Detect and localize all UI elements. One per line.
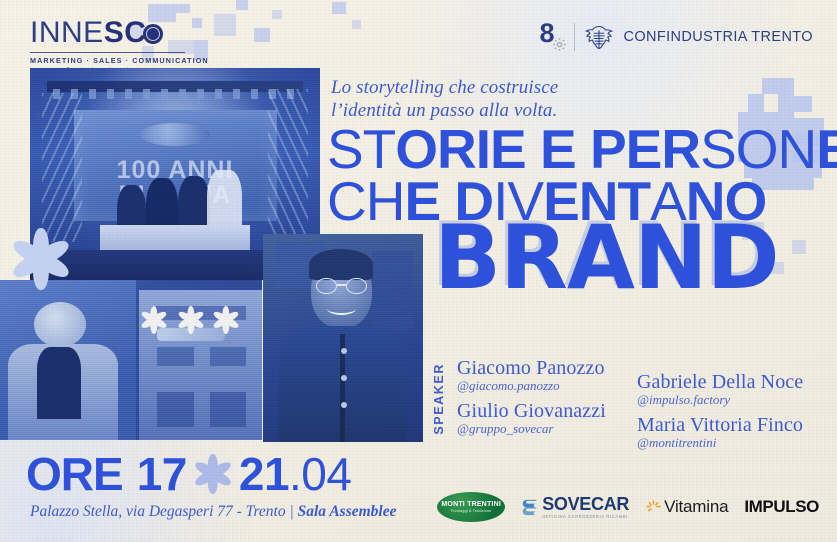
speaker-column-one: Giacomo Panozzo @giacomo.panozzo Giulio … xyxy=(457,358,606,443)
date-day: 21 xyxy=(239,451,289,497)
sovecar-mark-icon xyxy=(521,498,538,517)
speaker-name: Giacomo Panozzo xyxy=(457,358,606,379)
headline-brand-word: BRAND xyxy=(434,218,779,297)
speaker-name: Giulio Giovanazzi xyxy=(457,401,606,422)
sponsor-monti-name: MONTI TRENTINI xyxy=(441,501,501,508)
innesco-word-light: INNE xyxy=(30,16,104,49)
time-prefix: ORE xyxy=(26,451,123,497)
speaker-handle: @giacomo.panozzo xyxy=(457,379,606,394)
sponsor-monti-sub: Formaggi & Tradizione xyxy=(451,509,491,513)
speaker-label: SPEAKER xyxy=(432,363,446,435)
event-poster: INNESC MARKETING · SALES · COMMUNICATION… xyxy=(0,0,837,542)
sunburst-icon xyxy=(645,499,662,516)
photo-speaker-portrait-image xyxy=(263,234,423,442)
speaker-handle: @gruppo_sovecar xyxy=(457,422,606,437)
time-value: 17 xyxy=(137,451,187,497)
confindustria-name: CONFINDUSTRIA TRENTO xyxy=(623,29,813,45)
speaker-name: Maria Vittoria Finco xyxy=(637,415,803,436)
sponsor-impulso-logo: IMPULSO xyxy=(744,497,819,517)
innesco-logo: INNESC MARKETING · SALES · COMMUNICATION… xyxy=(30,18,209,74)
logo-divider xyxy=(574,23,575,51)
subheadline: Lo storytelling che costruisce l’identit… xyxy=(331,76,751,122)
headline-l1-e: E xyxy=(816,118,837,180)
photo-speaker-portrait xyxy=(263,234,423,442)
innesco-o-emblem-icon xyxy=(143,24,163,44)
subheadline-line-1: Lo storytelling che costruisce xyxy=(331,76,751,99)
innesco-tagline: MARKETING · SALES · COMMUNICATION xyxy=(30,56,209,65)
sponsor-vitamina-name: Vitamina xyxy=(664,497,728,517)
eagle-emblem-icon xyxy=(584,24,614,50)
headline-l2-a: CH xyxy=(327,170,404,232)
sponsor-sovecar-name: SOVECAR xyxy=(542,495,629,513)
photo-interview-image xyxy=(0,280,262,440)
photo-interview xyxy=(0,280,262,440)
asterisk-separator-icon xyxy=(193,454,233,494)
innesco-wordmark: INNESC xyxy=(30,18,209,48)
speaker-name: Gabriele Della Noce xyxy=(637,372,803,393)
headline-line-1: STORIE E PERSONE xyxy=(327,124,837,175)
sponsor-sovecar-logo: SOVECAR OFFICINA CARROZZERIA RICAMBI xyxy=(521,495,629,519)
date-month: .04 xyxy=(289,451,351,497)
innesco-word-bold: SC xyxy=(104,16,147,49)
venue-room: Sala Assemblee xyxy=(298,503,397,520)
confindustria-logo: 8 CONFINDUSTRIA TRENTO xyxy=(539,22,813,52)
speaker-handle: @impulso.factory xyxy=(637,393,803,408)
innesco-rule xyxy=(30,52,185,53)
venue-address: Palazzo Stella, via Degasperi 77 - Trent… xyxy=(30,503,298,520)
speaker-handle: @montitrentini xyxy=(637,436,803,451)
eight-gear-mark: 8 xyxy=(539,22,565,52)
sponsor-row: MONTI TRENTINI Formaggi & Tradizione SOV… xyxy=(437,492,819,522)
sponsor-monti-trentini-logo: MONTI TRENTINI Formaggi & Tradizione xyxy=(437,492,505,522)
speaker-column-two: Gabriele Della Noce @impulso.factory Mar… xyxy=(637,372,803,457)
asterisk-decor-1 xyxy=(140,306,168,334)
asterisk-decor-3 xyxy=(212,306,240,334)
sponsor-vitamina-logo: Vitamina xyxy=(645,497,728,517)
gear-icon xyxy=(552,37,567,52)
sponsor-sovecar-sub: OFFICINA CARROZZERIA RICAMBI xyxy=(542,514,629,519)
asterisk-decor-2 xyxy=(177,306,205,334)
venue-line: Palazzo Stella, via Degasperi 77 - Trent… xyxy=(30,503,397,521)
event-datetime: ORE17 21.04 xyxy=(26,451,351,497)
asterisk-decor-large xyxy=(10,228,72,290)
